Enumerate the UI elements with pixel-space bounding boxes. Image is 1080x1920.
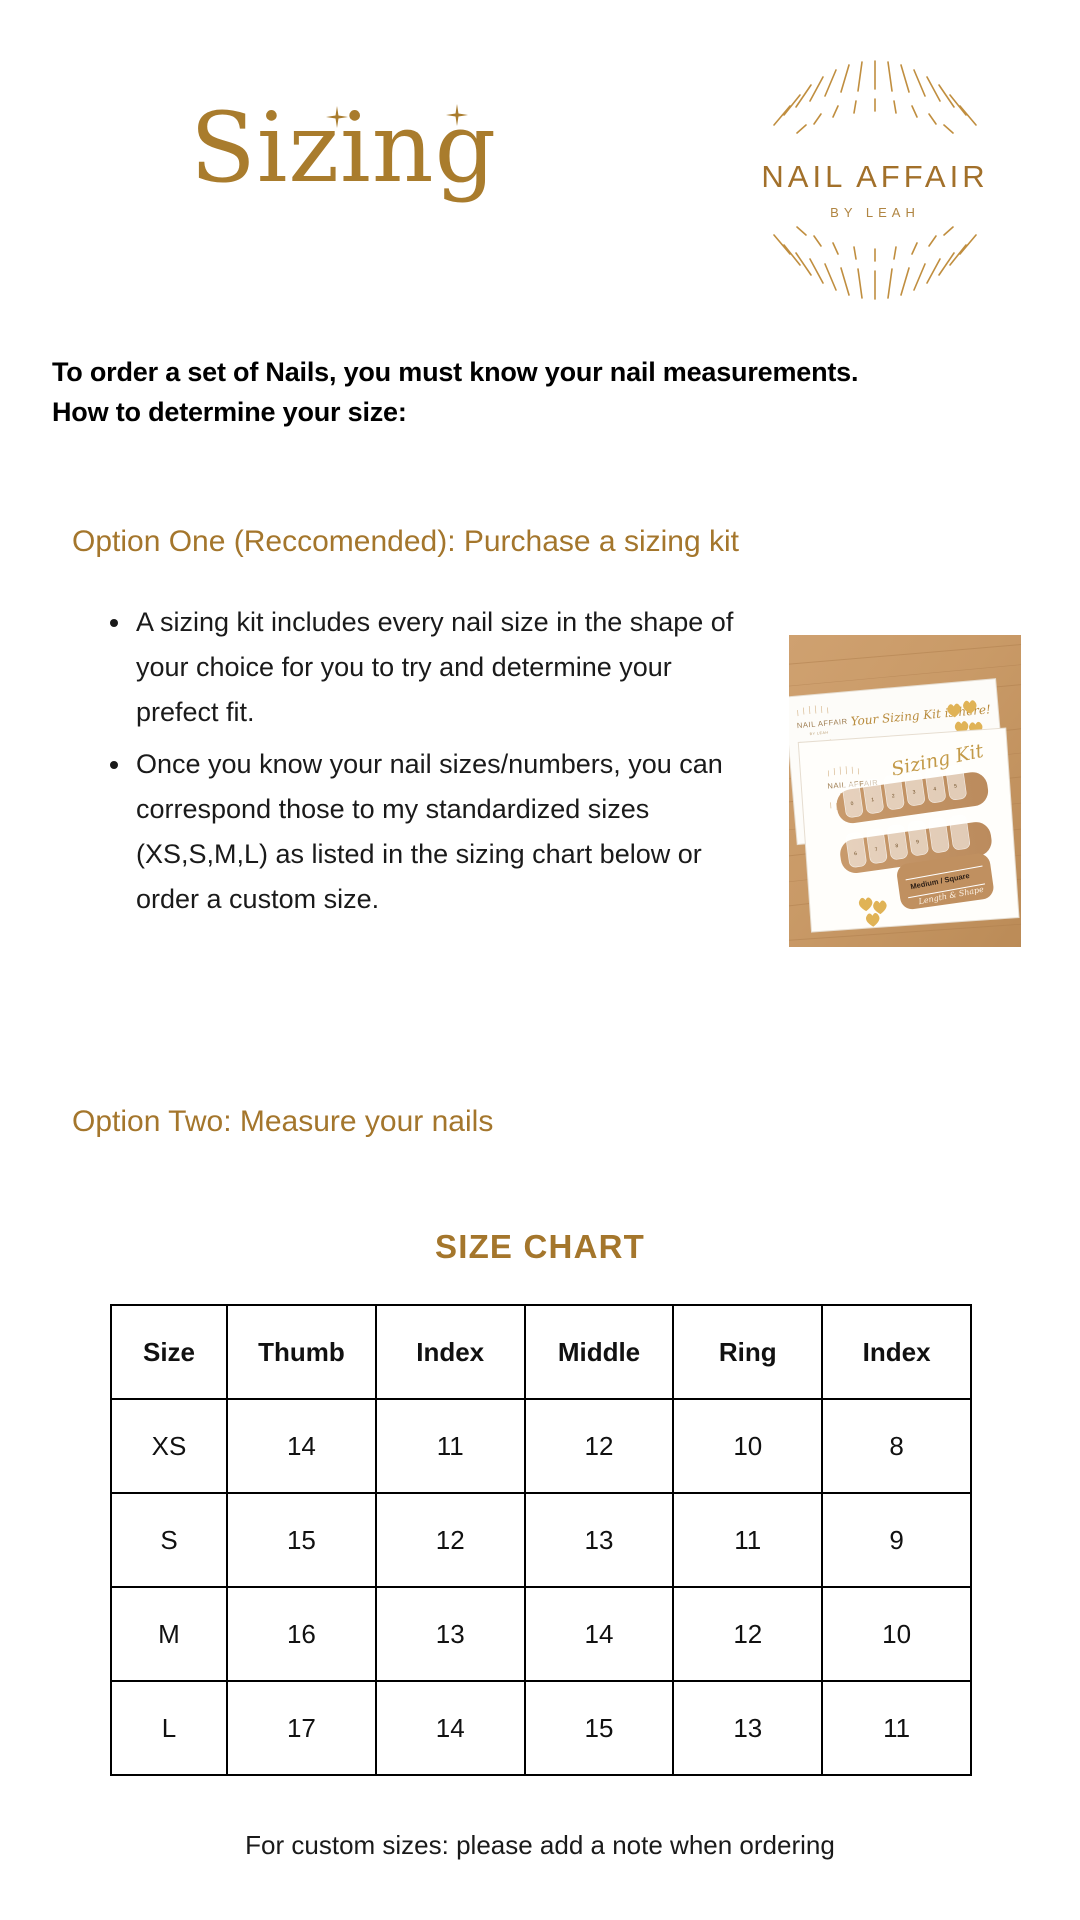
option-two-heading: Option Two: Measure your nails bbox=[72, 1105, 493, 1139]
cell-size: M bbox=[111, 1587, 227, 1681]
cell-ring: 11 bbox=[673, 1493, 822, 1587]
cell-index: 13 bbox=[376, 1587, 525, 1681]
column-header-index: Index bbox=[376, 1305, 525, 1399]
size-chart-table: Size Thumb Index Middle Ring Index XS 14… bbox=[110, 1304, 972, 1776]
cell-ring: 13 bbox=[673, 1681, 822, 1775]
cell-index-2: 10 bbox=[822, 1587, 971, 1681]
intro-line-2: How to determine your size: bbox=[52, 392, 1042, 432]
cell-index-2: 9 bbox=[822, 1493, 971, 1587]
cell-index-2: 11 bbox=[822, 1681, 971, 1775]
cell-middle: 15 bbox=[525, 1681, 674, 1775]
cell-thumb: 16 bbox=[227, 1587, 376, 1681]
cell-middle: 12 bbox=[525, 1399, 674, 1493]
column-header-thumb: Thumb bbox=[227, 1305, 376, 1399]
cell-index: 12 bbox=[376, 1493, 525, 1587]
cell-index: 11 bbox=[376, 1399, 525, 1493]
cell-index: 14 bbox=[376, 1681, 525, 1775]
list-item: A sizing kit includes every nail size in… bbox=[98, 600, 758, 734]
table-header-row: Size Thumb Index Middle Ring Index bbox=[111, 1305, 971, 1399]
size-chart-table-wrapper: Size Thumb Index Middle Ring Index XS 14… bbox=[110, 1304, 972, 1776]
column-header-size: Size bbox=[111, 1305, 227, 1399]
table-row: L 17 14 15 13 11 bbox=[111, 1681, 971, 1775]
table-row: M 16 13 14 12 10 bbox=[111, 1587, 971, 1681]
cell-thumb: 15 bbox=[227, 1493, 376, 1587]
page-header: Sizing bbox=[0, 0, 1080, 320]
cell-middle: 13 bbox=[525, 1493, 674, 1587]
cell-size: XS bbox=[111, 1399, 227, 1493]
option-one-bullet-list: A sizing kit includes every nail size in… bbox=[98, 600, 758, 930]
column-header-index-2: Index bbox=[822, 1305, 971, 1399]
size-chart-title: SIZE CHART bbox=[0, 1228, 1080, 1266]
cell-size: S bbox=[111, 1493, 227, 1587]
intro-line-1: To order a set of Nails, you must know y… bbox=[52, 352, 1042, 392]
brand-name: NAIL AFFAIR bbox=[750, 159, 1000, 195]
page-title-text: Sizing bbox=[190, 92, 497, 204]
table-row: XS 14 11 12 10 8 bbox=[111, 1399, 971, 1493]
column-header-middle: Middle bbox=[525, 1305, 674, 1399]
cell-size: L bbox=[111, 1681, 227, 1775]
table-row: S 15 12 13 11 9 bbox=[111, 1493, 971, 1587]
cell-thumb: 17 bbox=[227, 1681, 376, 1775]
cell-ring: 12 bbox=[673, 1587, 822, 1681]
cell-middle: 14 bbox=[525, 1587, 674, 1681]
intro-block: To order a set of Nails, you must know y… bbox=[52, 352, 1042, 432]
column-header-ring: Ring bbox=[673, 1305, 822, 1399]
sizing-kit-photo: NAIL AFFAIR BY LEAH Your Sizing Kit is h… bbox=[789, 635, 1021, 947]
page-title: Sizing bbox=[190, 100, 497, 196]
cell-ring: 10 bbox=[673, 1399, 822, 1493]
option-one-heading: Option One (Reccomended): Purchase a siz… bbox=[72, 525, 739, 559]
cell-thumb: 14 bbox=[227, 1399, 376, 1493]
brand-logo: NAIL AFFAIR BY LEAH bbox=[750, 55, 1000, 305]
list-item: Once you know your nail sizes/numbers, y… bbox=[98, 742, 758, 921]
brand-tagline: BY LEAH bbox=[750, 205, 1000, 220]
custom-size-note: For custom sizes: please add a note when… bbox=[0, 1830, 1080, 1861]
cell-index-2: 8 bbox=[822, 1399, 971, 1493]
